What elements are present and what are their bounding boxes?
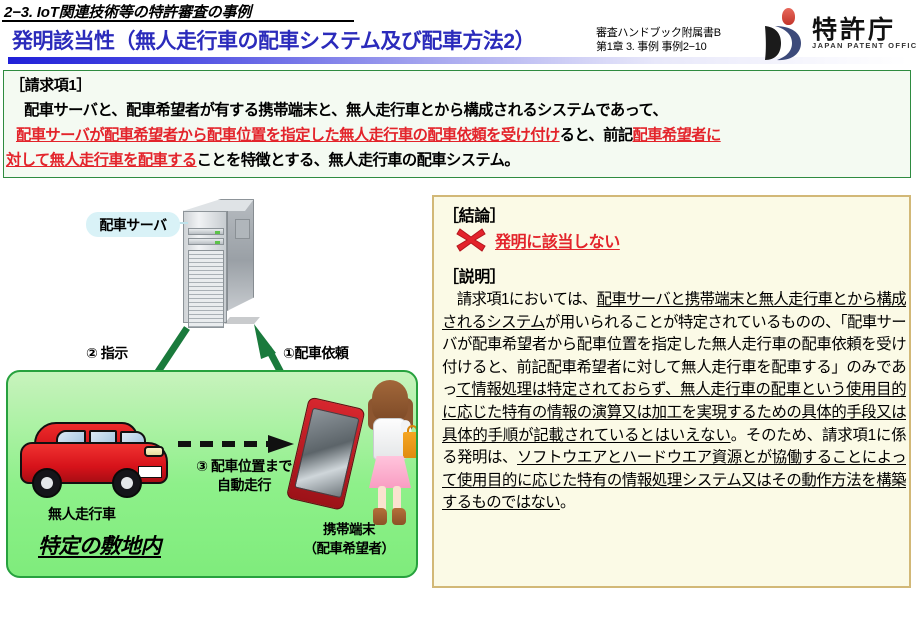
explanation-segment: 請求項1においては、 (442, 291, 597, 308)
hair (372, 380, 408, 422)
handbook-reference-line1: 審査ハンドブック附属書B (596, 26, 721, 40)
site-area-box: 無人走行車 ③ 配車位置まで 自動走行 携帯端末 （配車希望者） (6, 370, 418, 578)
phone-screen (294, 408, 359, 499)
conclusion-label: ［結論］ (443, 202, 505, 226)
phone-body (286, 396, 366, 510)
jpo-logo-icon (756, 8, 816, 60)
woman-with-bag-icon (360, 380, 418, 530)
red-x-icon (456, 227, 486, 253)
skirt (369, 456, 411, 488)
system-diagram: 配車サーバ ② 指示 ①配車依頼 無人走行車 (0, 182, 426, 618)
arrow-label-request: ①配車依頼 (283, 343, 348, 363)
claim-line-1: 配車サーバと、配車希望者が有する携帯端末と、無人走行車とから構成されるシステムで… (24, 98, 667, 120)
shopping-bag (403, 432, 418, 458)
smartphone-icon (284, 396, 369, 517)
verdict-row: 発明に該当しない (456, 227, 620, 253)
claim-highlight-1: 配車サーバが配車希望者から配車位置を指定した無人走行車の配車依頼を受け付け (16, 127, 560, 144)
phone-label-line2: （配車希望者） (294, 539, 404, 558)
boot (373, 508, 387, 525)
page-title: 発明該当性（無人走行車の配車システム及び配車方法2） (12, 25, 535, 55)
explanation-body: 請求項1においては、配車サーバと携帯端末と無人走行車とから構成されるシステムが用… (442, 289, 906, 515)
explanation-label: ［説明］ (443, 263, 505, 287)
car-wheel (112, 468, 142, 498)
claim-box: ［請求項1］ 配車サーバと、配車希望者が有する携帯端末と、無人走行車とから構成さ… (3, 70, 911, 178)
kicker-underline (2, 20, 354, 22)
section-kicker: 2−3. IoT関連技術等の特許審査の事例 (4, 1, 251, 22)
autonomous-drive-arrow-icon (176, 435, 296, 453)
org-name-en: JAPAN PATENT OFFICE (812, 41, 916, 50)
claim-highlight-3: 対して無人走行車を配車する (6, 152, 197, 169)
handbook-reference-line2: 第1章 3. 事例 事例2−10 (596, 40, 721, 54)
slide-header: 2−3. IoT関連技術等の特許審査の事例 発明該当性（無人走行車の配車システム… (0, 0, 916, 66)
red-car-icon (20, 420, 170, 500)
jpo-logo-mark-icon (761, 24, 801, 62)
conclusion-panel: ［結論］ 発明に該当しない ［説明］ 請求項1においては、配車サーバと携帯端末と… (432, 195, 911, 588)
arrow-label-instruction: ② 指示 (86, 343, 128, 363)
claim-label: ［請求項1］ (10, 74, 91, 95)
car-label: 無人走行車 (48, 504, 116, 524)
jpo-logo-dot-icon (782, 8, 795, 25)
claim-highlight-2: 配車希望者に (633, 127, 721, 144)
car-headlight (144, 446, 164, 457)
verdict-text: 発明に該当しない (495, 228, 620, 252)
car-wheel (32, 468, 62, 498)
claim-line-3: 対して無人走行車を配車することを特徴とする、無人走行車の配車システム。 (6, 148, 519, 170)
handbook-reference: 審査ハンドブック附属書B 第1章 3. 事例 事例2−10 (596, 26, 721, 54)
explanation-segment: 。 (560, 494, 575, 511)
claim-line-2: 配車サーバが配車希望者から配車位置を指定した無人走行車の配車依頼を受け付けると、… (16, 123, 721, 145)
site-area-label: 特定の敷地内 (38, 530, 161, 560)
car-license-plate (138, 466, 162, 478)
boot (392, 508, 406, 525)
claim-plain-1: ると、前記 (560, 127, 633, 144)
claim-plain-2: ことを特徴とする、無人走行車の配車システム。 (197, 152, 519, 169)
